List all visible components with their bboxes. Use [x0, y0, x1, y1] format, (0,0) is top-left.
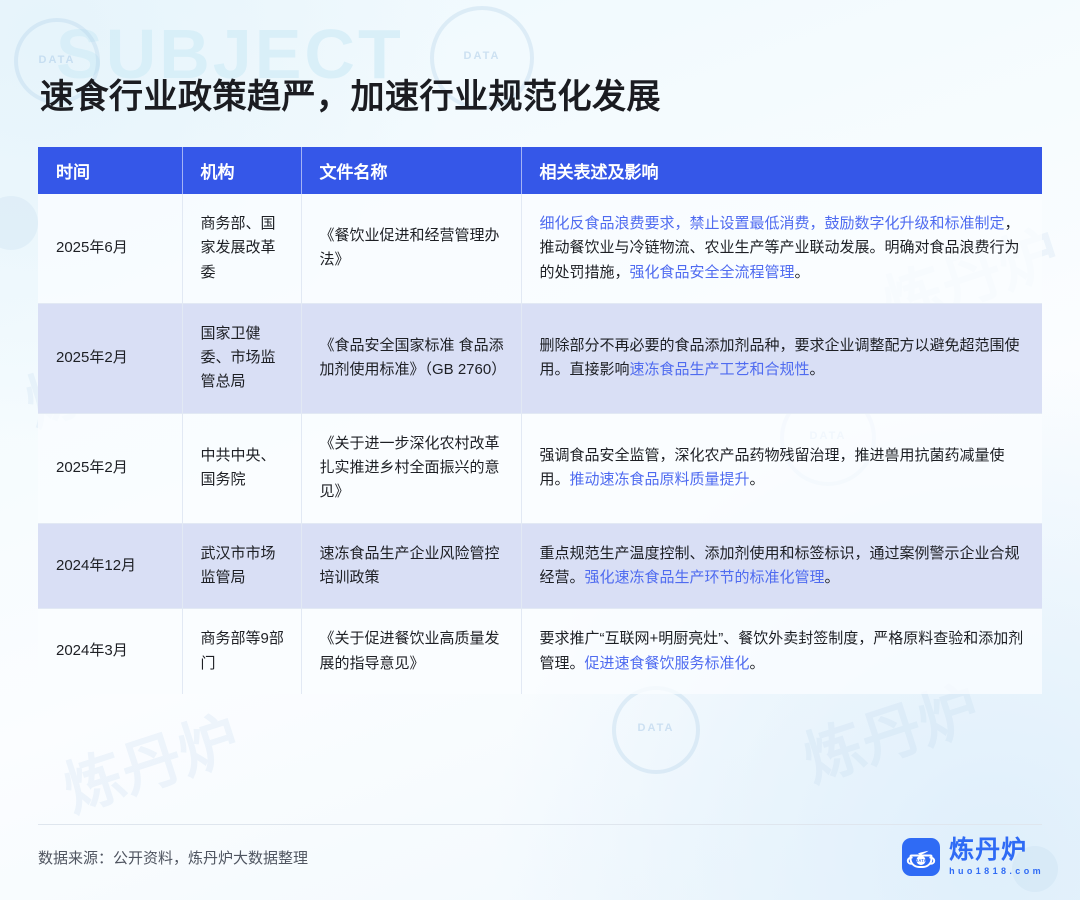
- cell-doc: 《餐饮业促进和经营管理办法》: [301, 194, 521, 303]
- cell-org: 武汉市市场监管局: [182, 523, 301, 609]
- cell-time: 2024年3月: [38, 609, 182, 694]
- data-source-note: 数据来源：公开资料，炼丹炉大数据整理: [38, 847, 308, 868]
- cell-doc: 《关于促进餐饮业高质量发展的指导意见》: [301, 609, 521, 694]
- cell-doc: 《关于进一步深化农村改革 扎实推进乡村全面振兴的意见》: [301, 413, 521, 523]
- cell-doc: 速冻食品生产企业风险管控培训政策: [301, 523, 521, 609]
- cell-description: 重点规范生产温度控制、添加剂使用和标签标识，通过案例警示企业合规经营。强化速冻食…: [521, 523, 1042, 609]
- plain-text: 。: [825, 569, 840, 586]
- cell-time: 2025年6月: [38, 194, 182, 303]
- brand-url: huo1818.com: [949, 867, 1044, 876]
- table-row: 2025年2月中共中央、国务院《关于进一步深化农村改革 扎实推进乡村全面振兴的意…: [38, 413, 1042, 523]
- brand-logo: DATA 炼丹炉 huo1818.com: [902, 838, 1044, 876]
- table-row: 2024年3月商务部等9部门《关于促进餐饮业高质量发展的指导意见》要求推广“互联…: [38, 609, 1042, 694]
- plain-text: 。: [750, 655, 765, 672]
- highlighted-text: 强化速冻食品生产环节的标准化管理: [585, 569, 825, 586]
- column-header-doc: 文件名称: [301, 147, 521, 194]
- cell-org: 中共中央、国务院: [182, 413, 301, 523]
- cell-doc: 《食品安全国家标准 食品添加剂使用标准》（GB 2760）: [301, 303, 521, 413]
- infographic-page: SUBJECT DATA DATA DATA DATA 炼丹炉 炼丹炉 炼丹炉 …: [0, 0, 1080, 900]
- ring-label: DATA: [612, 722, 700, 734]
- page-title: 速食行业政策趋严，加速行业规范化发展: [40, 69, 661, 118]
- cell-org: 商务部、国家发展改革委: [182, 194, 301, 303]
- table-row: 2024年12月武汉市市场监管局速冻食品生产企业风险管控培训政策重点规范生产温度…: [38, 523, 1042, 609]
- policy-table-wrapper: 时间 机构 文件名称 相关表述及影响 2025年6月商务部、国家发展改革委《餐饮…: [38, 147, 1042, 694]
- cell-org: 商务部等9部门: [182, 609, 301, 694]
- table-row: 2025年2月国家卫健委、市场监管总局《食品安全国家标准 食品添加剂使用标准》（…: [38, 303, 1042, 413]
- table-row: 2025年6月商务部、国家发展改革委《餐饮业促进和经营管理办法》细化反食品浪费要…: [38, 194, 1042, 303]
- plain-text: 。: [810, 361, 825, 378]
- highlighted-text: 推动速冻食品原料质量提升: [570, 471, 750, 488]
- highlighted-text: 促进速食餐饮服务标准化: [585, 655, 750, 672]
- brand-name: 炼丹炉: [949, 838, 1044, 863]
- table-body: 2025年6月商务部、国家发展改革委《餐饮业促进和经营管理办法》细化反食品浪费要…: [38, 194, 1042, 694]
- cell-description: 要求推广“互联网+明厨亮灶”、餐饮外卖封签制度，严格原料查验和添加剂管理。促进速…: [521, 609, 1042, 694]
- cell-time: 2025年2月: [38, 303, 182, 413]
- ring-rim: [612, 686, 700, 774]
- column-header-org: 机构: [182, 147, 301, 194]
- highlighted-text: 速冻食品生产工艺和合规性: [630, 361, 810, 378]
- cell-time: 2024年12月: [38, 523, 182, 609]
- highlighted-text: 细化反食品浪费要求，禁止设置最低消费，鼓励数字化升级和标准制定: [540, 215, 1005, 232]
- data-ring-watermark-4: DATA: [612, 686, 700, 774]
- brand-watermark-2: 炼丹炉: [51, 690, 249, 828]
- cell-description: 细化反食品浪费要求，禁止设置最低消费，鼓励数字化升级和标准制定，推动餐饮业与冷链…: [521, 194, 1042, 303]
- footer-divider: [38, 824, 1042, 825]
- cauldron-data-icon: DATA: [902, 838, 940, 876]
- cell-description: 删除部分不再必要的食品添加剂品种，要求企业调整配方以避免超范围使用。直接影响速冻…: [521, 303, 1042, 413]
- ring-label: DATA: [14, 54, 100, 66]
- plain-text: 。: [795, 264, 810, 281]
- brand-text-block: 炼丹炉 huo1818.com: [949, 838, 1044, 876]
- cell-description: 强调食品安全监管，深化农产品药物残留治理，推进兽用抗菌药减量使用。推动速冻食品原…: [521, 413, 1042, 523]
- cell-org: 国家卫健委、市场监管总局: [182, 303, 301, 413]
- plain-text: 。: [750, 471, 765, 488]
- column-header-desc: 相关表述及影响: [521, 147, 1042, 194]
- column-header-time: 时间: [38, 147, 182, 194]
- ring-label: DATA: [430, 50, 534, 62]
- table-header-row: 时间 机构 文件名称 相关表述及影响: [38, 147, 1042, 194]
- table-head: 时间 机构 文件名称 相关表述及影响: [38, 147, 1042, 194]
- svg-text:DATA: DATA: [915, 858, 927, 863]
- decor-dot-2: [0, 196, 38, 250]
- cell-time: 2025年2月: [38, 413, 182, 523]
- policy-table: 时间 机构 文件名称 相关表述及影响 2025年6月商务部、国家发展改革委《餐饮…: [38, 147, 1042, 694]
- highlighted-text: 强化食品安全全流程管理: [630, 264, 795, 281]
